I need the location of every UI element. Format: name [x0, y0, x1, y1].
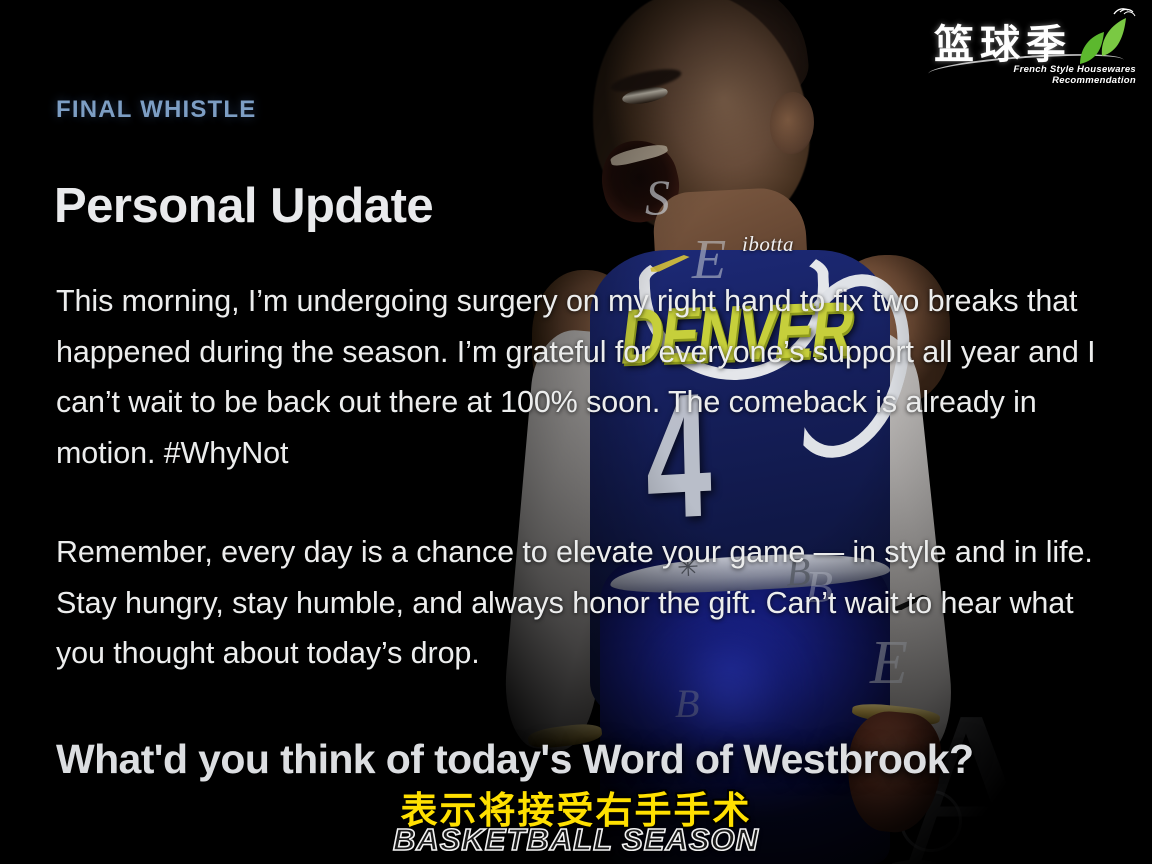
logo-subtitle-line2: Recommendation [1013, 75, 1136, 86]
page-title: Personal Update [54, 178, 433, 234]
post-paragraph-1: This morning, I’m undergoing surgery on … [56, 276, 1101, 478]
video-frame: S E ibotta DENVER 4 ✳ B B B E L A [0, 0, 1152, 864]
logo-subtitle: French Style Housewares Recommendation [1013, 64, 1136, 86]
logo-subtitle-line1: French Style Housewares [1013, 64, 1136, 75]
logo-chinese-title: 篮球季 [934, 12, 1072, 70]
channel-watermark: BASKETBALL SEASON [0, 822, 1152, 858]
post-cta-question: What'd you think of today's Word of West… [56, 736, 1116, 783]
post-paragraph-2: Remember, every day is a chance to eleva… [56, 527, 1101, 679]
leaf-icon [1062, 8, 1136, 66]
channel-logo: 篮球季 French Style Housewares Recommendati… [928, 6, 1140, 90]
post-content: FINAL WHISTLE Personal Update This morni… [0, 0, 1152, 864]
section-eyebrow: FINAL WHISTLE [56, 96, 256, 124]
